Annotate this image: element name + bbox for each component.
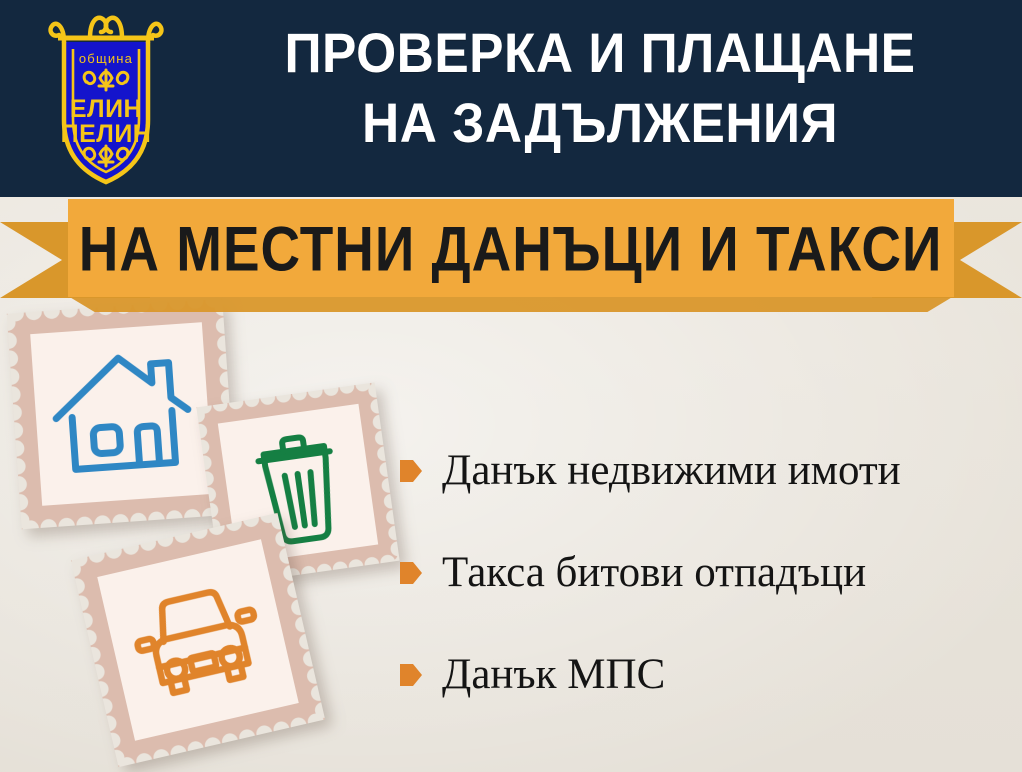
list-item[interactable]: Данък недвижими имоти	[400, 420, 1020, 522]
bullet-arrow-icon	[400, 560, 422, 586]
ribbon-body: НА МЕСТНИ ДАНЪЦИ И ТАКСИ	[68, 199, 954, 297]
poster-canvas: община ЕЛИН ПЕЛИН	[0, 0, 1022, 772]
list-item[interactable]: Такса битови отпадъци	[400, 522, 1020, 624]
crest-word-line2: ПЕЛИН	[61, 120, 152, 148]
list-item-label: Данък недвижими имоти	[442, 448, 901, 493]
crest-word-line1: ЕЛИН	[70, 95, 142, 123]
bullet-arrow-icon	[400, 458, 422, 484]
coat-of-arms-icon: община ЕЛИН ПЕЛИН	[42, 8, 170, 188]
service-list: Данък недвижими имоти Такса битови отпад…	[400, 420, 1020, 726]
ribbon-fold-shadow	[68, 296, 954, 312]
list-item-label: Такса битови отпадъци	[442, 550, 866, 595]
bullet-arrow-icon	[400, 662, 422, 688]
header-bar: община ЕЛИН ПЕЛИН	[0, 0, 1022, 197]
crest-word-small: община	[79, 51, 133, 66]
list-item-label: Данък МПС	[442, 652, 665, 697]
list-item[interactable]: Данък МПС	[400, 624, 1020, 726]
page-title: ПРОВЕРКА И ПЛАЩАНЕ НА ЗАДЪЛЖЕНИЯ	[223, 18, 977, 158]
ribbon-label: НА МЕСТНИ ДАНЪЦИ И ТАКСИ	[79, 212, 943, 285]
ribbon-banner: НА МЕСТНИ ДАНЪЦИ И ТАКСИ	[0, 196, 1022, 316]
